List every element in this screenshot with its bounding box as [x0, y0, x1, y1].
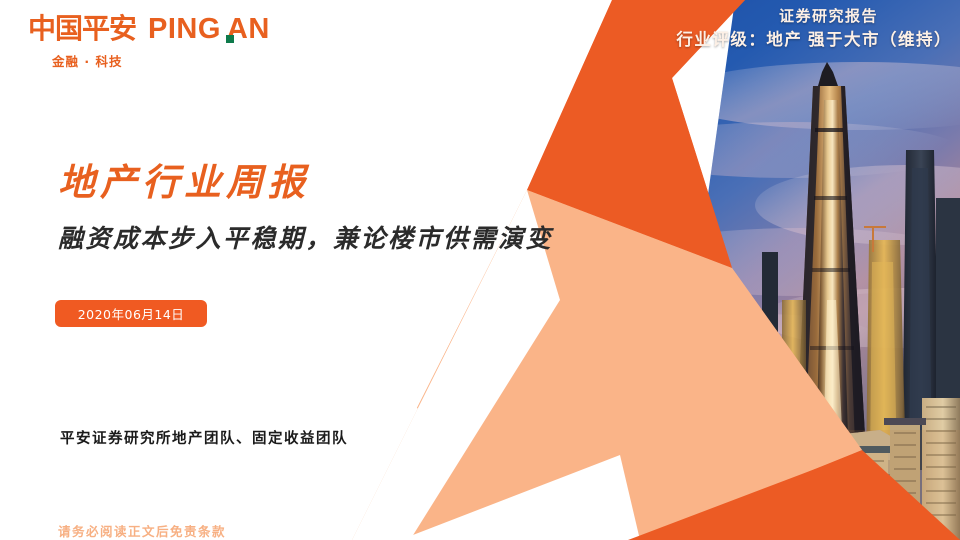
cover-artwork	[0, 0, 960, 540]
date-badge: 2020年06月14日	[55, 300, 207, 327]
logo-latin-text: PING AN	[148, 15, 270, 44]
logo-row: 中国平安 PING AN	[28, 10, 288, 44]
logo-chinese-text: 中国平安	[28, 14, 136, 44]
ping-an-logo: 中国平安 PING AN 金融 · 科技	[28, 10, 288, 70]
industry-rating-label: 行业评级：地产 强于大市（维持）	[676, 28, 952, 52]
disclaimer-label: 请务必阅读正文后免责条款	[58, 521, 226, 540]
author-team-label: 平安证券研究所地产团队、固定收益团队	[60, 427, 348, 448]
report-type-label: 证券研究报告	[676, 6, 952, 28]
page-subtitle: 融资成本步入平稳期，兼论楼市供需演变	[58, 219, 553, 255]
report-cover-slide: 中国平安 PING AN 金融 · 科技 证券研究报告 行业评级：地产 强于大市…	[0, 0, 960, 540]
date-badge-label: 2020年06月14日	[78, 304, 185, 323]
logo-tagline: 金融 · 科技	[52, 51, 288, 70]
header-right-block: 证券研究报告 行业评级：地产 强于大市（维持）	[676, 6, 952, 52]
green-square-icon	[226, 35, 234, 43]
logo-latin-ping: PING	[148, 15, 221, 44]
page-title: 地产行业周报	[58, 152, 310, 206]
